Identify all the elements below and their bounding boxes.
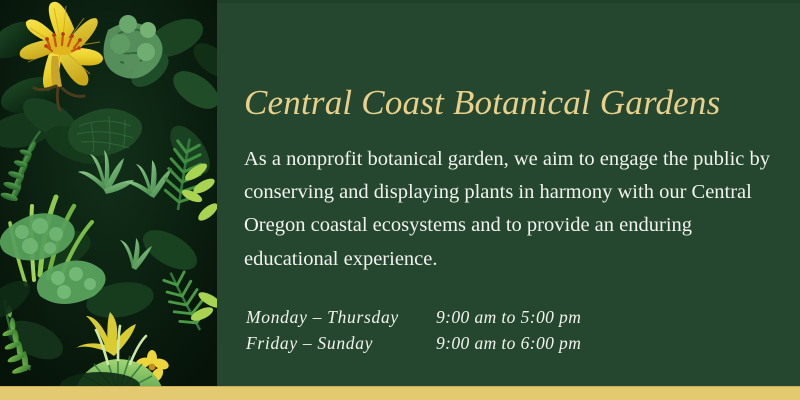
hours-times-weekend: 9:00 am to 6:00 pm <box>436 333 581 359</box>
gold-accent-rule <box>0 386 800 400</box>
hours-days-weekend: Friday – Sunday <box>246 333 436 359</box>
hours-days-weekday: Monday – Thursday <box>246 307 436 333</box>
hours-row: Monday – Thursday 9:00 am to 5:00 pm <box>246 307 581 333</box>
botanical-garden-banner: Central Coast Botanical Gardens As a non… <box>0 0 800 400</box>
hours-row: Friday – Sunday 9:00 am to 6:00 pm <box>246 333 581 359</box>
mission-statement: As a nonprofit botanical garden, we aim … <box>244 143 772 276</box>
banner-content: Central Coast Botanical Gardens As a non… <box>244 0 774 386</box>
page-title: Central Coast Botanical Gardens <box>244 84 720 123</box>
hours-times-weekday: 9:00 am to 5:00 pm <box>436 307 581 333</box>
opening-hours-table: Monday – Thursday 9:00 am to 5:00 pm Fri… <box>246 307 581 359</box>
botanical-illustration-panel <box>0 0 217 386</box>
foliage-artwork <box>0 0 217 386</box>
